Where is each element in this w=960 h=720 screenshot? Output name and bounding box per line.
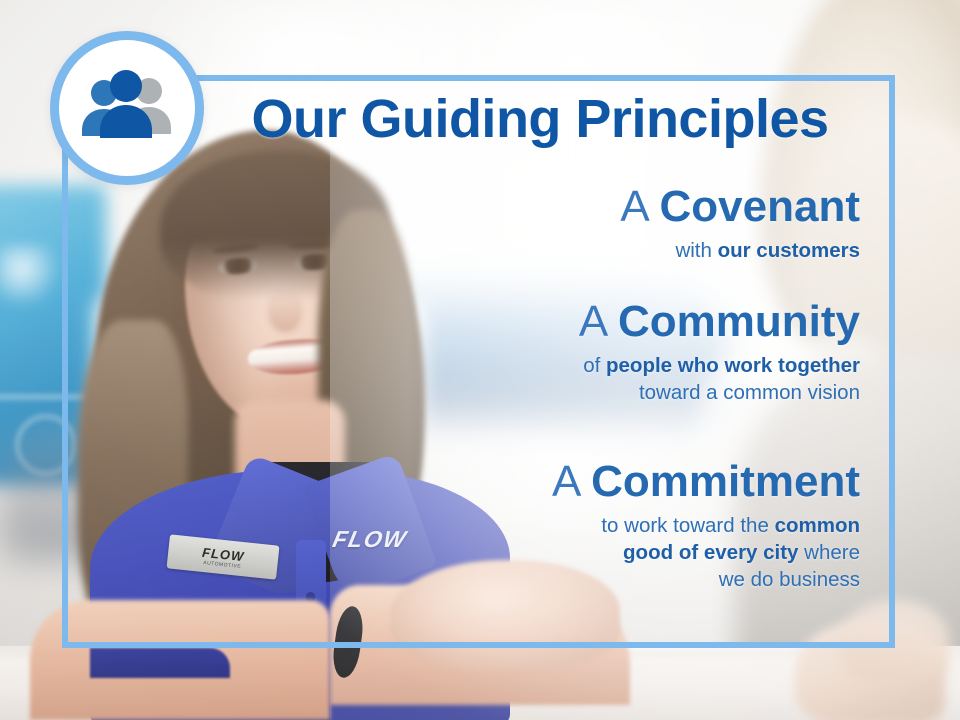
plain-text: where — [798, 541, 860, 564]
emphasis-text: good of every city — [623, 541, 798, 564]
plain-text: of — [583, 354, 606, 377]
principle-heading: A Community — [300, 300, 860, 344]
principle-subtext-line: to work toward the common — [300, 512, 860, 539]
principle-article: A — [579, 297, 606, 346]
principle-subtext-line: toward a common vision — [300, 379, 860, 406]
plain-text: with — [675, 239, 717, 262]
emphasis-text: people who work together — [606, 354, 860, 377]
plain-text: toward a common vision — [639, 381, 860, 404]
people-group-badge — [50, 31, 204, 185]
principle-article: A — [620, 182, 647, 231]
principle-article: A — [552, 457, 579, 506]
people-group-icon — [75, 69, 179, 147]
marketing-graphic: FLOW FLOW AUTOMOTIVE Our Guidi — [0, 0, 960, 720]
emphasis-text: common — [775, 514, 860, 537]
principle-heading: A Commitment — [300, 460, 860, 504]
principle-word: Commitment — [591, 457, 860, 506]
principle-heading: A Covenant — [300, 185, 860, 229]
principle-word: Community — [618, 297, 860, 346]
principle-subtext-line: good of every city where — [300, 539, 860, 566]
principle-subtext: with our customers — [300, 237, 860, 264]
principle-subtext-line: with our customers — [300, 237, 860, 264]
principle-community: A Community of people who work togethert… — [300, 300, 860, 406]
principle-commitment: A Commitment to work toward the commongo… — [300, 460, 860, 593]
principle-subtext-line: of people who work together — [300, 352, 860, 379]
plain-text: we do business — [719, 568, 860, 591]
principle-subtext: to work toward the commongood of every c… — [300, 512, 860, 593]
principle-subtext-line: we do business — [300, 566, 860, 593]
principle-covenant: A Covenant with our customers — [300, 185, 860, 264]
plain-text: to work toward the — [601, 514, 774, 537]
page-title: Our Guiding Principles — [210, 92, 870, 147]
principle-word: Covenant — [660, 182, 860, 231]
emphasis-text: our customers — [718, 239, 860, 262]
principle-subtext: of people who work togethertoward a comm… — [300, 352, 860, 406]
